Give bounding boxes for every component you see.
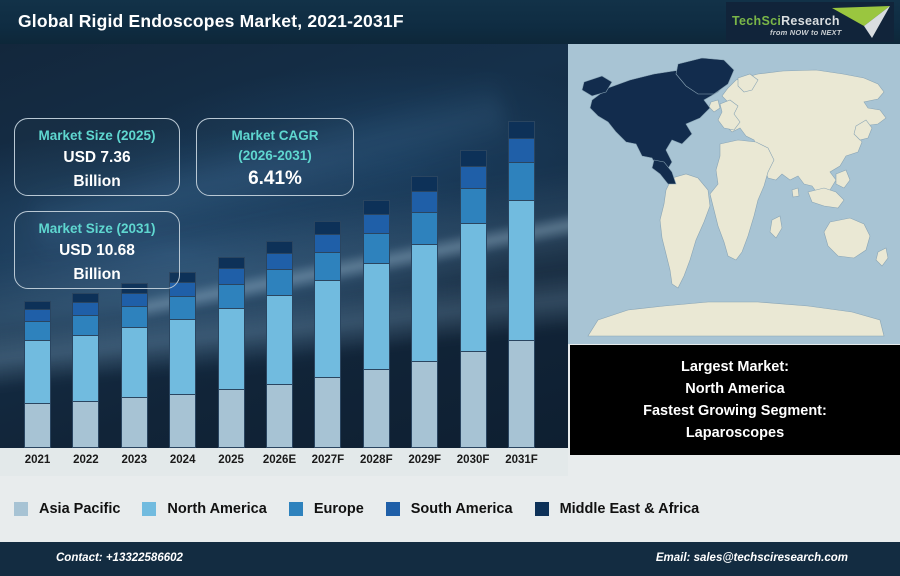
bar-segment[interactable] xyxy=(24,403,51,448)
legend-label: Europe xyxy=(314,501,364,517)
bar-segment[interactable] xyxy=(411,176,438,191)
x-tick-2024: 2024 xyxy=(170,454,196,466)
bar-segment[interactable] xyxy=(72,302,99,315)
stat-card-market-size-2025: Market Size (2025) USD 7.36 Billion xyxy=(14,118,180,196)
stat-card-unit: Billion xyxy=(15,263,179,287)
bar-segment[interactable] xyxy=(169,319,196,394)
bar-2027F[interactable] xyxy=(314,221,341,448)
bar-segment[interactable] xyxy=(72,315,99,335)
legend-label: North America xyxy=(167,501,266,517)
bar-2030F[interactable] xyxy=(460,150,487,448)
techsci-logo: TechSciResearch from NOW to NEXT xyxy=(726,2,894,42)
stat-card-subtitle: (2026-2031) xyxy=(197,146,353,166)
bar-segment[interactable] xyxy=(266,269,293,295)
bar-segment[interactable] xyxy=(363,233,390,263)
bar-segment[interactable] xyxy=(24,309,51,321)
logo-brand-first: TechSci xyxy=(732,14,781,28)
bar-segment[interactable] xyxy=(508,340,535,448)
bar-segment[interactable] xyxy=(169,394,196,448)
stat-card-title: Market Size (2031) xyxy=(15,219,179,239)
legend-swatch-icon xyxy=(386,502,400,516)
bar-segment[interactable] xyxy=(411,361,438,448)
x-tick-2030F: 2030F xyxy=(457,454,490,466)
bar-segment[interactable] xyxy=(218,284,245,308)
bar-segment[interactable] xyxy=(411,244,438,360)
legend-item-middle-east-africa[interactable]: Middle East & Africa xyxy=(535,501,700,517)
bar-segment[interactable] xyxy=(266,253,293,270)
infographic-root: Global Rigid Endoscopes Market, 2021-203… xyxy=(0,0,900,576)
legend-item-north-america[interactable]: North America xyxy=(142,501,266,517)
legend-swatch-icon xyxy=(289,502,303,516)
x-tick-2023: 2023 xyxy=(122,454,148,466)
bar-segment[interactable] xyxy=(314,252,341,280)
chart-legend: Asia PacificNorth AmericaEuropeSouth Ame… xyxy=(0,476,900,542)
bar-segment[interactable] xyxy=(121,293,148,307)
bar-segment[interactable] xyxy=(314,234,341,252)
bar-2022[interactable] xyxy=(72,293,99,448)
bar-segment[interactable] xyxy=(460,188,487,223)
x-tick-2028F: 2028F xyxy=(360,454,393,466)
bar-segment[interactable] xyxy=(266,384,293,448)
largest-market-label: Largest Market: xyxy=(681,356,789,378)
legend-swatch-icon xyxy=(142,502,156,516)
legend-item-europe[interactable]: Europe xyxy=(289,501,364,517)
bar-segment[interactable] xyxy=(314,221,341,234)
bar-segment[interactable] xyxy=(411,212,438,244)
bar-segment[interactable] xyxy=(460,223,487,351)
bar-2023[interactable] xyxy=(121,283,148,448)
bar-segment[interactable] xyxy=(24,321,51,340)
world-map-svg xyxy=(568,44,900,344)
bar-segment[interactable] xyxy=(508,200,535,340)
bar-segment[interactable] xyxy=(24,340,51,403)
legend-label: Asia Pacific xyxy=(39,501,120,517)
bar-segment[interactable] xyxy=(411,191,438,212)
bar-segment[interactable] xyxy=(121,306,148,327)
stat-card-value: USD 7.36 xyxy=(15,146,179,170)
stat-card-market-cagr: Market CAGR (2026-2031) 6.41% xyxy=(196,118,354,196)
bar-segment[interactable] xyxy=(266,295,293,383)
highlight-info-box: Largest Market: North America Fastest Gr… xyxy=(570,345,900,455)
stat-card-title: Market Size (2025) xyxy=(15,126,179,146)
legend-label: Middle East & Africa xyxy=(560,501,700,517)
bar-segment[interactable] xyxy=(72,335,99,401)
footer-email: Email: sales@techsciresearch.com xyxy=(656,552,848,564)
bar-segment[interactable] xyxy=(121,397,148,448)
stat-card-title: Market CAGR xyxy=(197,126,353,146)
logo-wordmark: TechSciResearch xyxy=(732,14,840,28)
bar-segment[interactable] xyxy=(363,263,390,369)
x-axis-tick-labels: 202120222023202420252026E2027F2028F2029F… xyxy=(0,448,568,476)
x-tick-2022: 2022 xyxy=(73,454,99,466)
bar-segment[interactable] xyxy=(169,296,196,318)
largest-market-value: North America xyxy=(685,378,784,400)
bar-segment[interactable] xyxy=(363,369,390,448)
legend-swatch-icon xyxy=(535,502,549,516)
bar-segment[interactable] xyxy=(72,293,99,302)
legend-item-asia-pacific[interactable]: Asia Pacific xyxy=(14,501,120,517)
bar-segment[interactable] xyxy=(218,308,245,389)
bar-2025[interactable] xyxy=(218,257,245,448)
bar-segment[interactable] xyxy=(218,268,245,284)
bar-segment[interactable] xyxy=(460,166,487,188)
fastest-segment-label: Fastest Growing Segment: xyxy=(643,400,827,422)
chart-panel: Market Size (2025) USD 7.36 Billion Mark… xyxy=(0,44,568,448)
bar-segment[interactable] xyxy=(218,389,245,448)
bar-2029F[interactable] xyxy=(411,176,438,448)
footer-contact: Contact: +13322586602 xyxy=(56,552,183,564)
x-tick-2025: 2025 xyxy=(218,454,244,466)
stat-card-unit: Billion xyxy=(15,170,179,194)
footer-bar: Contact: +13322586602 Email: sales@techs… xyxy=(0,542,900,576)
x-tick-2026E: 2026E xyxy=(263,454,296,466)
x-tick-2029F: 2029F xyxy=(408,454,441,466)
bar-2021[interactable] xyxy=(24,301,51,448)
bar-segment[interactable] xyxy=(508,162,535,200)
map-sri-lanka xyxy=(792,188,799,197)
legend-label: South America xyxy=(411,501,513,517)
logo-brand-second: Research xyxy=(781,14,840,28)
stat-card-market-size-2031: Market Size (2031) USD 10.68 Billion xyxy=(14,211,180,289)
header-bar: Global Rigid Endoscopes Market, 2021-203… xyxy=(0,0,900,44)
legend-swatch-icon xyxy=(14,502,28,516)
bar-segment[interactable] xyxy=(218,257,245,268)
bar-segment[interactable] xyxy=(72,401,99,448)
world-map xyxy=(568,44,900,344)
legend-item-south-america[interactable]: South America xyxy=(386,501,513,517)
bar-segment[interactable] xyxy=(24,301,51,310)
bar-segment[interactable] xyxy=(314,377,341,448)
bar-segment[interactable] xyxy=(508,138,535,162)
bar-segment[interactable] xyxy=(508,121,535,138)
bar-2031F[interactable] xyxy=(508,121,535,448)
bar-segment[interactable] xyxy=(314,280,341,377)
logo-tagline: from NOW to NEXT xyxy=(770,28,842,37)
fastest-segment-value: Laparoscopes xyxy=(686,422,784,444)
x-tick-2031F: 2031F xyxy=(505,454,538,466)
bar-segment[interactable] xyxy=(266,241,293,253)
x-tick-2027F: 2027F xyxy=(312,454,345,466)
page-title: Global Rigid Endoscopes Market, 2021-203… xyxy=(18,11,404,32)
bar-2026E[interactable] xyxy=(266,241,293,448)
stat-card-value: USD 10.68 xyxy=(15,239,179,263)
x-tick-2021: 2021 xyxy=(25,454,51,466)
bar-segment[interactable] xyxy=(460,150,487,166)
bar-segment[interactable] xyxy=(363,200,390,214)
bar-2028F[interactable] xyxy=(363,200,390,448)
bar-2024[interactable] xyxy=(169,272,196,448)
bar-segment[interactable] xyxy=(363,214,390,233)
bar-segment[interactable] xyxy=(121,327,148,397)
bar-segment[interactable] xyxy=(460,351,487,448)
stat-card-value: 6.41% xyxy=(197,165,353,194)
